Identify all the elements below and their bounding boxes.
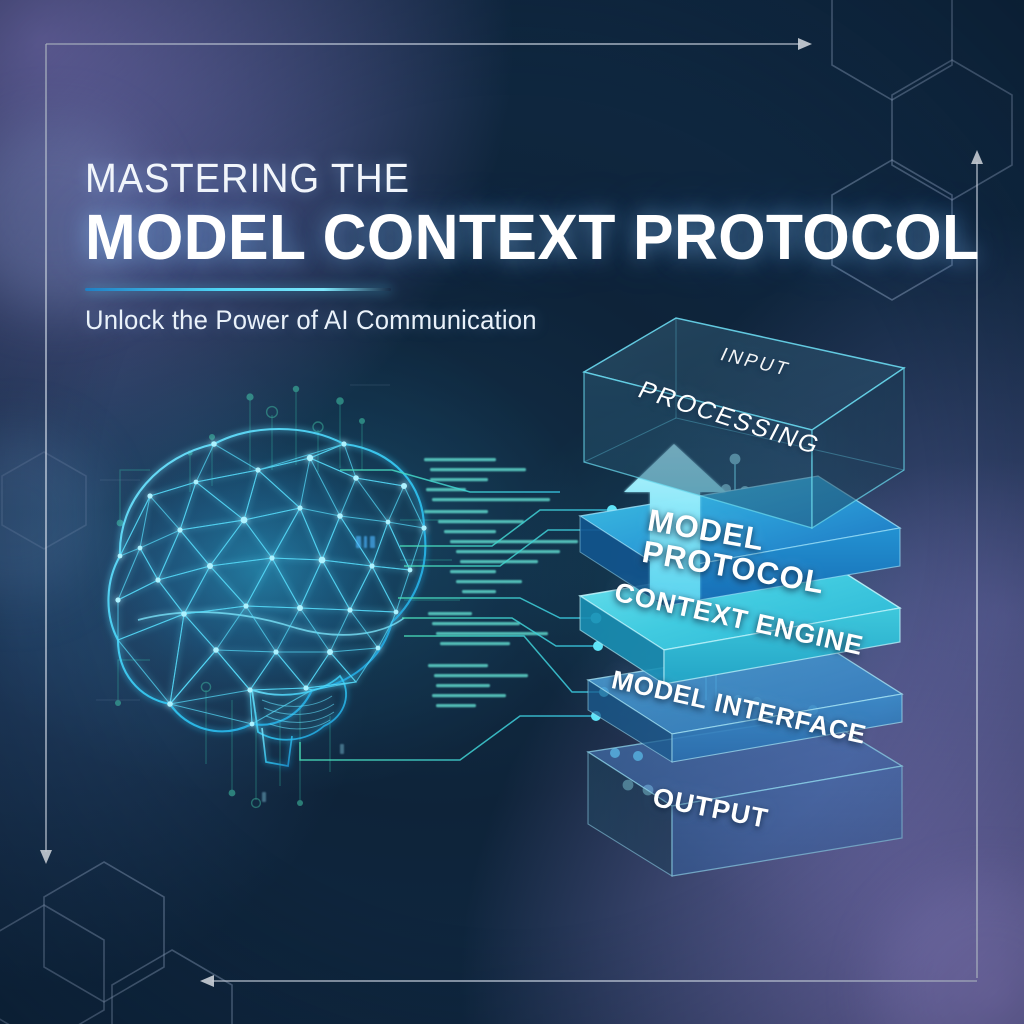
heading-block: MASTERING THE MODEL CONTEXT PROTOCOL <box>85 158 905 270</box>
title-underline <box>85 288 391 291</box>
vignette-overlay <box>0 0 1024 1024</box>
subtitle-text: Unlock the Power of AI Communication <box>85 305 537 336</box>
kicker-text: MASTERING THE <box>85 158 848 199</box>
page-title: MODEL CONTEXT PROTOCOL <box>85 205 864 270</box>
poster-canvas: MASTERING THE MODEL CONTEXT PROTOCOL Unl… <box>0 0 1024 1024</box>
